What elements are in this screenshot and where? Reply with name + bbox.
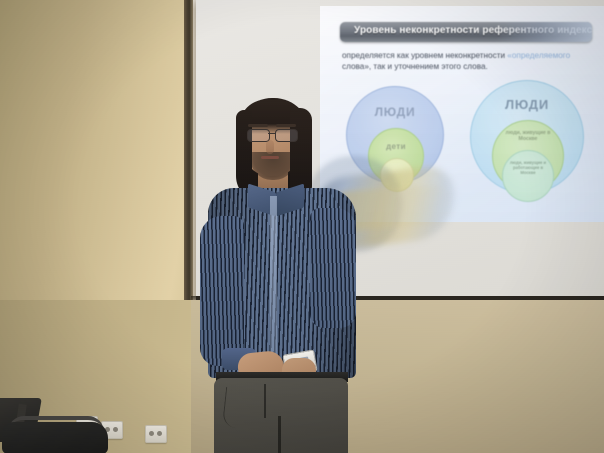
presenter	[198, 96, 358, 453]
slide-title-glare	[496, 22, 592, 42]
slide-body-text: определяется как уровнем неконкретности …	[342, 50, 594, 72]
video-frame: SamsungR Уровень неконкретности референт…	[0, 0, 604, 453]
presenter-nose	[266, 140, 274, 154]
trousers-pocket	[222, 387, 249, 429]
presenter-mouth	[261, 156, 279, 159]
right-diagram-mid-label: люди, живущие в Москве	[500, 130, 556, 143]
wall-socket	[145, 425, 167, 443]
socket-hole-icon	[157, 431, 162, 436]
presenter-hair-left	[236, 110, 252, 182]
presenter-arm-left	[200, 216, 244, 366]
presenter-eyebrow-right	[276, 124, 296, 127]
glasses-icon	[246, 129, 298, 141]
trousers-leg-split	[278, 416, 281, 453]
right-diagram-outer-label: ЛЮДИ	[505, 97, 549, 112]
right-diagram-inner-label: люди, живущие и работающие в Москве	[506, 160, 550, 176]
wall-corner-edge	[184, 0, 193, 330]
shirt-placket	[270, 196, 277, 376]
socket-hole-icon	[113, 427, 118, 432]
presenter-eyebrow-left	[248, 124, 268, 127]
glasses-lens-right	[275, 129, 298, 142]
left-diagram-outer-label: ЛЮДИ	[375, 105, 416, 119]
slide-body-line2: слова», так и уточнением этого слова.	[342, 61, 594, 72]
left-diagram-inner-label: дети	[386, 142, 406, 151]
glasses-bridge	[268, 133, 275, 134]
chair-seat	[2, 422, 108, 453]
office-chair	[0, 404, 112, 453]
slide-body-highlight: «определяемого	[507, 51, 570, 60]
trousers-fly	[264, 384, 266, 418]
socket-hole-icon	[149, 431, 154, 436]
slide-title-bar: Уровень неконкретности референтного инде…	[340, 22, 592, 42]
right-diagram-inner-circle: люди, живущие и работающие в Москве	[502, 150, 554, 202]
presenter-arm-right	[310, 208, 356, 328]
slide-body-line1: определяется как уровнем неконкретности	[342, 51, 507, 60]
